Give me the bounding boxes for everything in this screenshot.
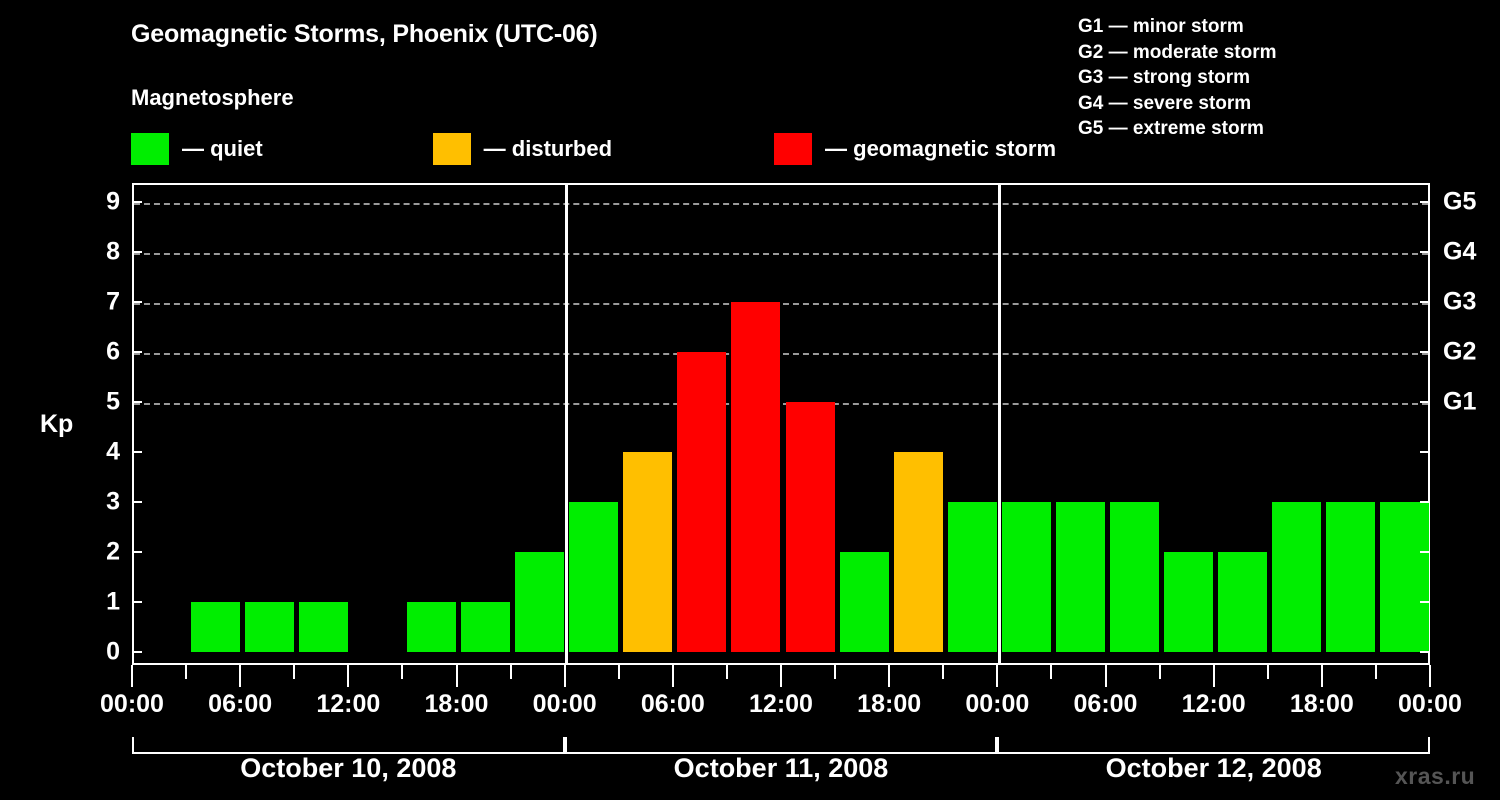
y-axis-tick-labels: 0123456789	[88, 183, 120, 665]
x-tick-label: 18:00	[857, 690, 921, 719]
x-tick-label: 00:00	[1398, 690, 1462, 719]
g-scale-tick-G5: G5	[1443, 188, 1476, 217]
x-tick-label: 00:00	[100, 690, 164, 719]
x-tick-mark	[131, 665, 133, 687]
bar	[1218, 552, 1267, 652]
y-tick-label-9: 9	[90, 188, 120, 217]
x-tick-mark	[510, 665, 512, 679]
x-tick-label: 00:00	[533, 690, 597, 719]
legend-item-geomagnetic-storm: — geomagnetic storm	[774, 133, 1056, 165]
right-tick-mark-kp-3	[1420, 501, 1430, 503]
x-tick-mark	[185, 665, 187, 679]
bar	[1110, 502, 1159, 652]
x-tick-mark	[996, 665, 998, 687]
bar	[515, 552, 564, 652]
day-bracket-3	[997, 737, 1430, 754]
chart-title: Geomagnetic Storms, Phoenix (UTC-06)	[131, 20, 598, 49]
x-tick-mark	[942, 665, 944, 679]
legend-item-quiet: — quiet	[131, 133, 263, 165]
x-tick-label: 00:00	[965, 690, 1029, 719]
gridline-kp-6	[134, 353, 1428, 355]
x-tick-mark	[1105, 665, 1107, 687]
bar	[786, 402, 835, 652]
bar	[191, 602, 240, 652]
x-tick-mark	[618, 665, 620, 679]
y-tick-mark-8	[132, 251, 142, 253]
x-tick-mark	[672, 665, 674, 687]
plot-inner	[134, 185, 1428, 663]
y-tick-mark-5	[132, 401, 142, 403]
x-tick-mark	[456, 665, 458, 687]
y-tick-mark-0	[132, 651, 142, 653]
y-tick-mark-6	[132, 351, 142, 353]
g-scale-tick-G3: G3	[1443, 288, 1476, 317]
bar	[245, 602, 294, 652]
y-tick-label-4: 4	[90, 438, 120, 467]
x-tick-mark	[1375, 665, 1377, 679]
g-scale-line-g4: G4 — severe storm	[1078, 91, 1478, 117]
x-tick-label: 12:00	[1182, 690, 1246, 719]
bar	[299, 602, 348, 652]
bar	[1272, 502, 1321, 652]
watermark: xras.ru	[1395, 763, 1475, 790]
x-tick-label: 18:00	[1290, 690, 1354, 719]
legend-label-quiet: — quiet	[182, 136, 263, 162]
bar	[1002, 502, 1051, 652]
gridline-kp-5	[134, 403, 1428, 405]
right-tick-mark-kp-4	[1420, 451, 1430, 453]
y-tick-mark-3	[132, 501, 142, 503]
gridline-kp-7	[134, 303, 1428, 305]
x-tick-label: 06:00	[641, 690, 705, 719]
y-tick-label-1: 1	[90, 588, 120, 617]
y-tick-label-8: 8	[90, 238, 120, 267]
day-label-1: October 10, 2008	[240, 753, 456, 784]
bar	[1326, 502, 1375, 652]
g-scale-tick-G2: G2	[1443, 338, 1476, 367]
g-scale-tick-G1: G1	[1443, 388, 1476, 417]
y-axis-label: Kp	[40, 410, 73, 439]
g-scale-line-g1: G1 — minor storm	[1078, 14, 1478, 40]
gridline-kp-9	[134, 203, 1428, 205]
x-tick-mark	[1267, 665, 1269, 679]
x-tick-mark	[1429, 665, 1431, 687]
chart-subtitle: Magnetosphere	[131, 85, 294, 111]
y-tick-label-6: 6	[90, 338, 120, 367]
y-tick-mark-9	[132, 201, 142, 203]
gridline-kp-8	[134, 253, 1428, 255]
right-tick-mark-kp-5	[1420, 401, 1430, 403]
x-tick-mark	[1321, 665, 1323, 687]
legend-swatch-disturbed	[433, 133, 471, 165]
y-tick-label-3: 3	[90, 488, 120, 517]
right-tick-mark-kp-9	[1420, 201, 1430, 203]
bar	[1380, 502, 1429, 652]
x-tick-mark	[1050, 665, 1052, 679]
day-separator-1	[565, 185, 568, 663]
y-tick-mark-1	[132, 601, 142, 603]
bar	[569, 502, 618, 652]
right-tick-mark-kp-7	[1420, 301, 1430, 303]
y-tick-mark-4	[132, 451, 142, 453]
right-tick-mark-kp-8	[1420, 251, 1430, 253]
right-tick-mark-kp-1	[1420, 601, 1430, 603]
g-scale-legend: G1 — minor storm G2 — moderate storm G3 …	[1078, 14, 1478, 142]
color-legend: — quiet — disturbed — geomagnetic storm	[131, 133, 1056, 165]
right-tick-mark-kp-2	[1420, 551, 1430, 553]
x-tick-mark	[1213, 665, 1215, 687]
x-tick-mark	[347, 665, 349, 687]
y-tick-label-5: 5	[90, 388, 120, 417]
geomagnetic-storm-chart: Geomagnetic Storms, Phoenix (UTC-06) Mag…	[0, 0, 1500, 800]
x-tick-mark	[1159, 665, 1161, 679]
x-tick-label: 06:00	[1074, 690, 1138, 719]
bar	[623, 452, 672, 652]
g-scale-line-g2: G2 — moderate storm	[1078, 40, 1478, 66]
bar	[677, 352, 726, 652]
bar	[1056, 502, 1105, 652]
bar	[731, 302, 780, 652]
bar	[894, 452, 943, 652]
bar	[407, 602, 456, 652]
x-tick-mark	[726, 665, 728, 679]
day-label-2: October 11, 2008	[674, 753, 889, 784]
y-tick-label-0: 0	[90, 638, 120, 667]
x-tick-label: 12:00	[749, 690, 813, 719]
legend-item-disturbed: — disturbed	[433, 133, 612, 165]
right-tick-mark-kp-0	[1420, 651, 1430, 653]
x-tick-label: 06:00	[208, 690, 272, 719]
legend-label-geomagnetic-storm: — geomagnetic storm	[825, 136, 1056, 162]
bar	[840, 552, 889, 652]
legend-swatch-geomagnetic-storm	[774, 133, 812, 165]
legend-swatch-quiet	[131, 133, 169, 165]
y-tick-label-2: 2	[90, 538, 120, 567]
g-scale-line-g3: G3 — strong storm	[1078, 65, 1478, 91]
x-tick-mark	[293, 665, 295, 679]
right-tick-mark-kp-6	[1420, 351, 1430, 353]
day-bracket-1	[132, 737, 565, 754]
legend-label-disturbed: — disturbed	[484, 136, 612, 162]
day-bracket-2	[565, 737, 998, 754]
y-tick-label-7: 7	[90, 288, 120, 317]
x-tick-mark	[401, 665, 403, 679]
plot-area	[132, 183, 1430, 665]
x-tick-label: 12:00	[316, 690, 380, 719]
y-tick-mark-7	[132, 301, 142, 303]
g-scale-tick-G4: G4	[1443, 238, 1476, 267]
day-separator-2	[998, 185, 1001, 663]
g-scale-line-g5: G5 — extreme storm	[1078, 116, 1478, 142]
x-tick-mark	[834, 665, 836, 679]
bar	[1164, 552, 1213, 652]
x-tick-mark	[239, 665, 241, 687]
bar	[948, 502, 997, 652]
bar	[461, 602, 510, 652]
x-tick-mark	[564, 665, 566, 687]
x-tick-label: 18:00	[425, 690, 489, 719]
day-label-3: October 12, 2008	[1106, 753, 1322, 784]
x-tick-mark	[780, 665, 782, 687]
x-tick-mark	[888, 665, 890, 687]
y-tick-mark-2	[132, 551, 142, 553]
